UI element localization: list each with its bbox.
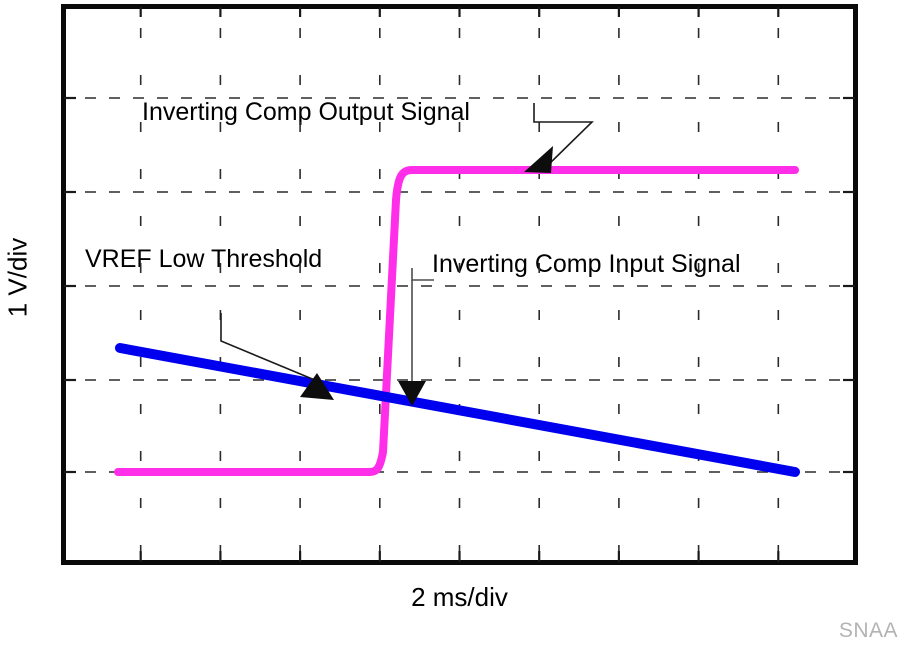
y-axis-label: 1 V/div bbox=[3, 218, 34, 338]
oscilloscope-figure: 1 V/div 2 ms/div Inverting Comp Output S… bbox=[0, 0, 902, 657]
annotation-input-signal: Inverting Comp Input Signal bbox=[432, 250, 741, 279]
x-axis-label: 2 ms/div bbox=[61, 582, 858, 613]
annotation-vref-threshold: VREF Low Threshold bbox=[85, 245, 322, 274]
watermark-text: SNAA bbox=[790, 619, 898, 643]
annotation-output-signal: Inverting Comp Output Signal bbox=[142, 98, 470, 127]
plot-area-border bbox=[61, 4, 858, 565]
